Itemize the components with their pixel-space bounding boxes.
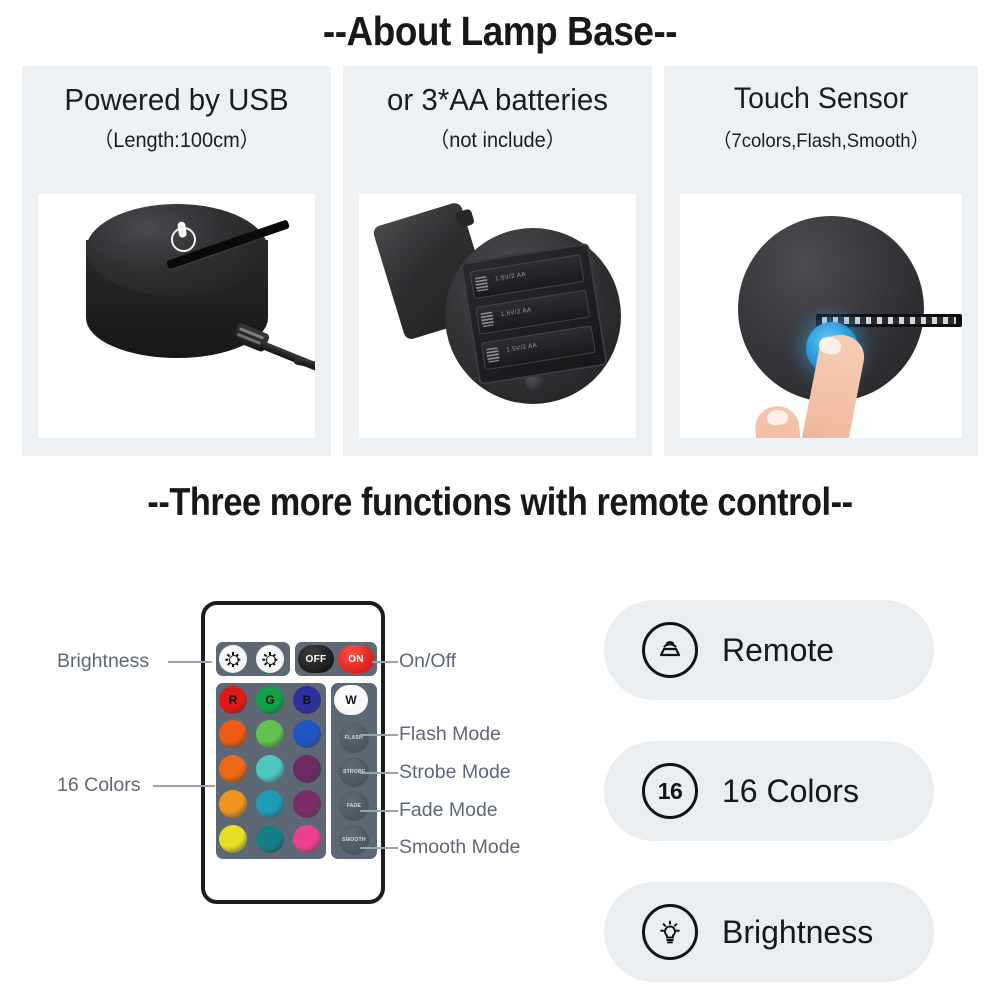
remote-control[interactable]: OFF ON RGBWFLASHSTROBEFADESMOOTH <box>201 601 385 904</box>
power-off-button[interactable]: OFF <box>298 645 334 673</box>
power-on-label: ON <box>348 654 364 665</box>
feature-label: Remote <box>722 632 834 669</box>
color-button[interactable] <box>256 825 284 853</box>
battery-slot: 1.5V/2 AA <box>481 325 596 370</box>
callout-on-off: On/Off <box>399 650 456 673</box>
card-powered-by-usb: Powered by USB （Length:100cm） <box>22 66 331 456</box>
feature-pill-16-colors[interactable]: 16 16 Colors <box>604 741 934 841</box>
callout-smooth-mode: Smooth Mode <box>399 836 520 859</box>
sixteen-icon: 16 <box>642 763 698 819</box>
color-button[interactable] <box>293 755 321 783</box>
leader-line <box>360 772 398 774</box>
color-button-g[interactable]: G <box>256 686 284 714</box>
color-button[interactable] <box>293 825 321 853</box>
color-button[interactable] <box>256 720 284 748</box>
mode-button-label: FLASH <box>345 735 363 741</box>
sun-icon <box>264 653 277 666</box>
battery-slot-label: 1.5V/2 AA <box>500 306 532 318</box>
color-button-b[interactable]: B <box>293 686 321 714</box>
remote-signal-icon <box>642 622 698 678</box>
power-symbol-icon <box>169 225 197 253</box>
power-off-label: OFF <box>306 654 327 665</box>
feature-pill-brightness[interactable]: Brightness <box>604 882 934 982</box>
mode-button-label: SMOOTH <box>342 837 366 843</box>
leader-line <box>372 661 398 663</box>
leader-line <box>360 847 398 849</box>
photo-touch-sensor <box>680 194 962 438</box>
feature-pill-remote[interactable]: Remote <box>604 600 934 700</box>
color-button[interactable] <box>219 755 247 783</box>
color-button[interactable] <box>256 755 284 783</box>
sixteen-badge-label: 16 <box>658 778 683 805</box>
color-button[interactable] <box>256 790 284 818</box>
battery-slot-label: 1.5V/2 AA <box>495 271 527 283</box>
color-button-w[interactable]: W <box>334 685 368 715</box>
power-on-button[interactable]: ON <box>338 645 374 673</box>
color-button-label: B <box>303 693 312 707</box>
callout-brightness: Brightness <box>57 650 149 673</box>
card-touch-sensor: Touch Sensor （7colors,Flash,Smooth） <box>664 66 978 456</box>
lamp-base-top <box>86 204 268 296</box>
leader-line <box>360 810 398 812</box>
color-button[interactable] <box>219 825 247 853</box>
color-button[interactable] <box>293 790 321 818</box>
sun-icon <box>227 653 240 666</box>
card-title: or 3*AA batteries <box>351 82 645 118</box>
feature-label: Brightness <box>722 914 873 951</box>
callout-16-colors: 16 Colors <box>57 774 140 797</box>
card-title: Touch Sensor <box>672 82 970 116</box>
leader-line <box>153 785 215 787</box>
page-title-three-more-functions: --Three more functions with remote contr… <box>60 481 940 525</box>
leader-line <box>360 734 398 736</box>
color-button-label: R <box>229 693 238 707</box>
mode-button-flash[interactable]: FLASH <box>339 723 369 753</box>
leader-line <box>168 661 212 663</box>
color-button-label: G <box>265 693 274 707</box>
battery-slot-label: 1.5V/2 AA <box>506 342 538 354</box>
mode-button-fade[interactable]: FADE <box>339 791 369 821</box>
photo-battery-compartment: 1.5V/2 AA 1.5V/2 AA 1.5V/2 AA <box>359 194 636 438</box>
battery-tray: 1.5V/2 AA 1.5V/2 AA 1.5V/2 AA <box>460 243 608 386</box>
color-button-r[interactable]: R <box>219 686 247 714</box>
infographic-page: --About Lamp Base-- Powered by USB （Leng… <box>0 0 1000 1000</box>
card-subtitle: （not include） <box>351 124 645 154</box>
brightness-down-button[interactable] <box>256 645 284 673</box>
color-button[interactable] <box>219 790 247 818</box>
usb-cable <box>259 340 315 372</box>
brightness-up-button[interactable] <box>219 645 247 673</box>
card-subtitle: （7colors,Flash,Smooth） <box>672 124 970 153</box>
callout-strobe-mode: Strobe Mode <box>399 761 511 784</box>
page-title-about-lamp-base: --About Lamp Base-- <box>50 8 950 55</box>
color-button-label: W <box>345 693 356 707</box>
feature-label: 16 Colors <box>722 773 859 810</box>
card-subtitle: （Length:100cm） <box>30 124 324 154</box>
bulb-icon <box>642 904 698 960</box>
color-button[interactable] <box>219 720 247 748</box>
callout-fade-mode: Fade Mode <box>399 799 498 822</box>
photo-usb-lamp-base <box>38 194 315 438</box>
mode-button-smooth[interactable]: SMOOTH <box>339 825 369 855</box>
lamp-base-usb-illustration <box>38 194 315 438</box>
card-title: Powered by USB <box>30 82 324 118</box>
callout-flash-mode: Flash Mode <box>399 723 501 746</box>
color-button[interactable] <box>293 720 321 748</box>
mode-button-label: FADE <box>347 803 361 809</box>
card-aa-batteries: or 3*AA batteries （not include） 1.5V/2 A… <box>343 66 652 456</box>
